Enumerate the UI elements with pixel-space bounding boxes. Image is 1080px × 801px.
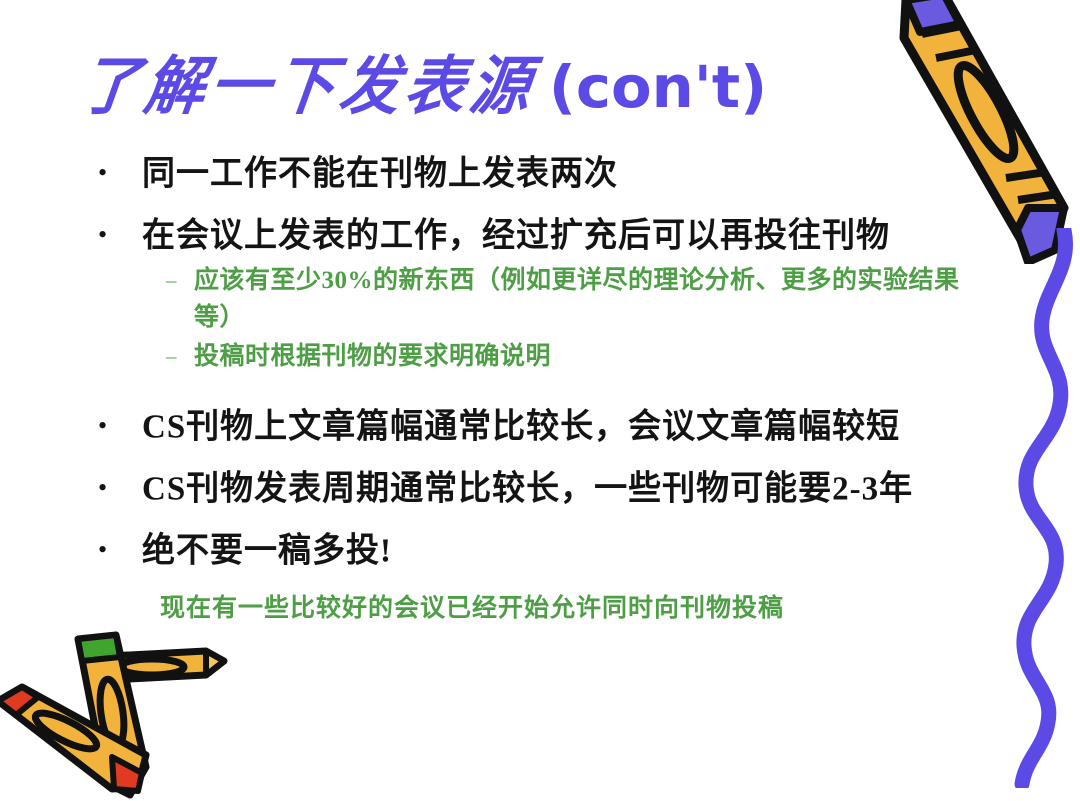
spacer (0, 453, 1010, 465)
list-item: • 绝不要一稿多投! (0, 527, 1010, 573)
bullet-marker: • (98, 150, 142, 196)
sub-bullet-marker: – (166, 338, 194, 375)
crayon-v-label (96, 678, 127, 748)
crayon-h-label (120, 659, 184, 675)
page-title: 了解一下发表源(con't) (80, 46, 900, 132)
crayon-band-2 (936, 50, 976, 58)
crayon-d-body (0, 687, 146, 789)
slide-canvas: 了解一下发表源(con't) • 同一工作不能在刊物上发表两次 • 在会议上发表… (0, 0, 1080, 801)
crayon-h-body (90, 651, 224, 681)
sub-bullet-marker: – (166, 262, 194, 299)
closing-note: 现在有一些比较好的会议已经开始允许同时向刊物投稿 (0, 589, 1010, 629)
spacer (0, 515, 1010, 527)
crayon-v-body (78, 635, 146, 795)
squiggle-stroke (1022, 230, 1066, 784)
list-item-label: 绝不要一稿多投! (142, 527, 392, 575)
crayon-h-tip (206, 651, 224, 675)
list-item: • 同一工作不能在刊物上发表两次 (0, 150, 1010, 196)
spacer (0, 200, 1010, 212)
sub-list-item-label: 投稿时根据刊物的要求明确说明 (194, 338, 551, 375)
crayon-band-4 (1018, 194, 1058, 200)
spacer (0, 577, 1010, 589)
sub-list-item: – 投稿时根据刊物的要求明确说明 (0, 338, 1010, 375)
list-item-label: 在会议上发表的工作，经过扩充后可以再投往刊物 (142, 212, 890, 260)
title-continued-label: (con't) (549, 46, 767, 128)
spacer (0, 377, 1010, 403)
crayon-tip (1017, 208, 1064, 262)
crayon-vertical-green (78, 635, 146, 795)
list-item-label: CS刊物上文章篇幅通常比较长，会议文章篇幅较短 (142, 403, 900, 451)
crayon-d-label (31, 707, 101, 756)
title-chinese: 了解一下发表源 (75, 44, 541, 131)
crayon-d-band-red (112, 757, 142, 791)
sub-list-item: – 应该有至少30%的新东西（例如更详尽的理论分析、更多的实验结果等） (0, 262, 1010, 336)
crayon-wrapper-top (906, 0, 960, 32)
bullet-marker: • (98, 212, 142, 258)
crayon-d-tip-red (0, 687, 38, 715)
crayon-band-1 (922, 26, 962, 34)
crayon-band-3 (1006, 172, 1046, 178)
list-item-label: 同一工作不能在刊物上发表两次 (142, 150, 618, 198)
crayon-cluster-icon (0, 605, 244, 801)
bullet-marker: • (98, 527, 142, 573)
sub-list-item-label: 应该有至少30%的新东西（例如更详尽的理论分析、更多的实验结果等） (194, 262, 984, 336)
bullet-list: • 同一工作不能在刊物上发表两次 • 在会议上发表的工作，经过扩充后可以再投往刊… (0, 150, 1010, 629)
crayon-diagonal-red (0, 687, 146, 791)
crayon-v-tip-green (78, 635, 120, 661)
bullet-marker: • (98, 465, 142, 511)
list-item: • 在会议上发表的工作，经过扩充后可以再投往刊物 (0, 212, 1010, 258)
list-item: • CS刊物发表周期通常比较长，一些刊物可能要2-3年 (0, 465, 1010, 511)
list-item: • CS刊物上文章篇幅通常比较长，会议文章篇幅较短 (0, 403, 1010, 449)
list-item-label: CS刊物发表周期通常比较长，一些刊物可能要2-3年 (142, 465, 913, 513)
crayon-horizontal (90, 651, 224, 681)
bullet-marker: • (98, 403, 142, 449)
